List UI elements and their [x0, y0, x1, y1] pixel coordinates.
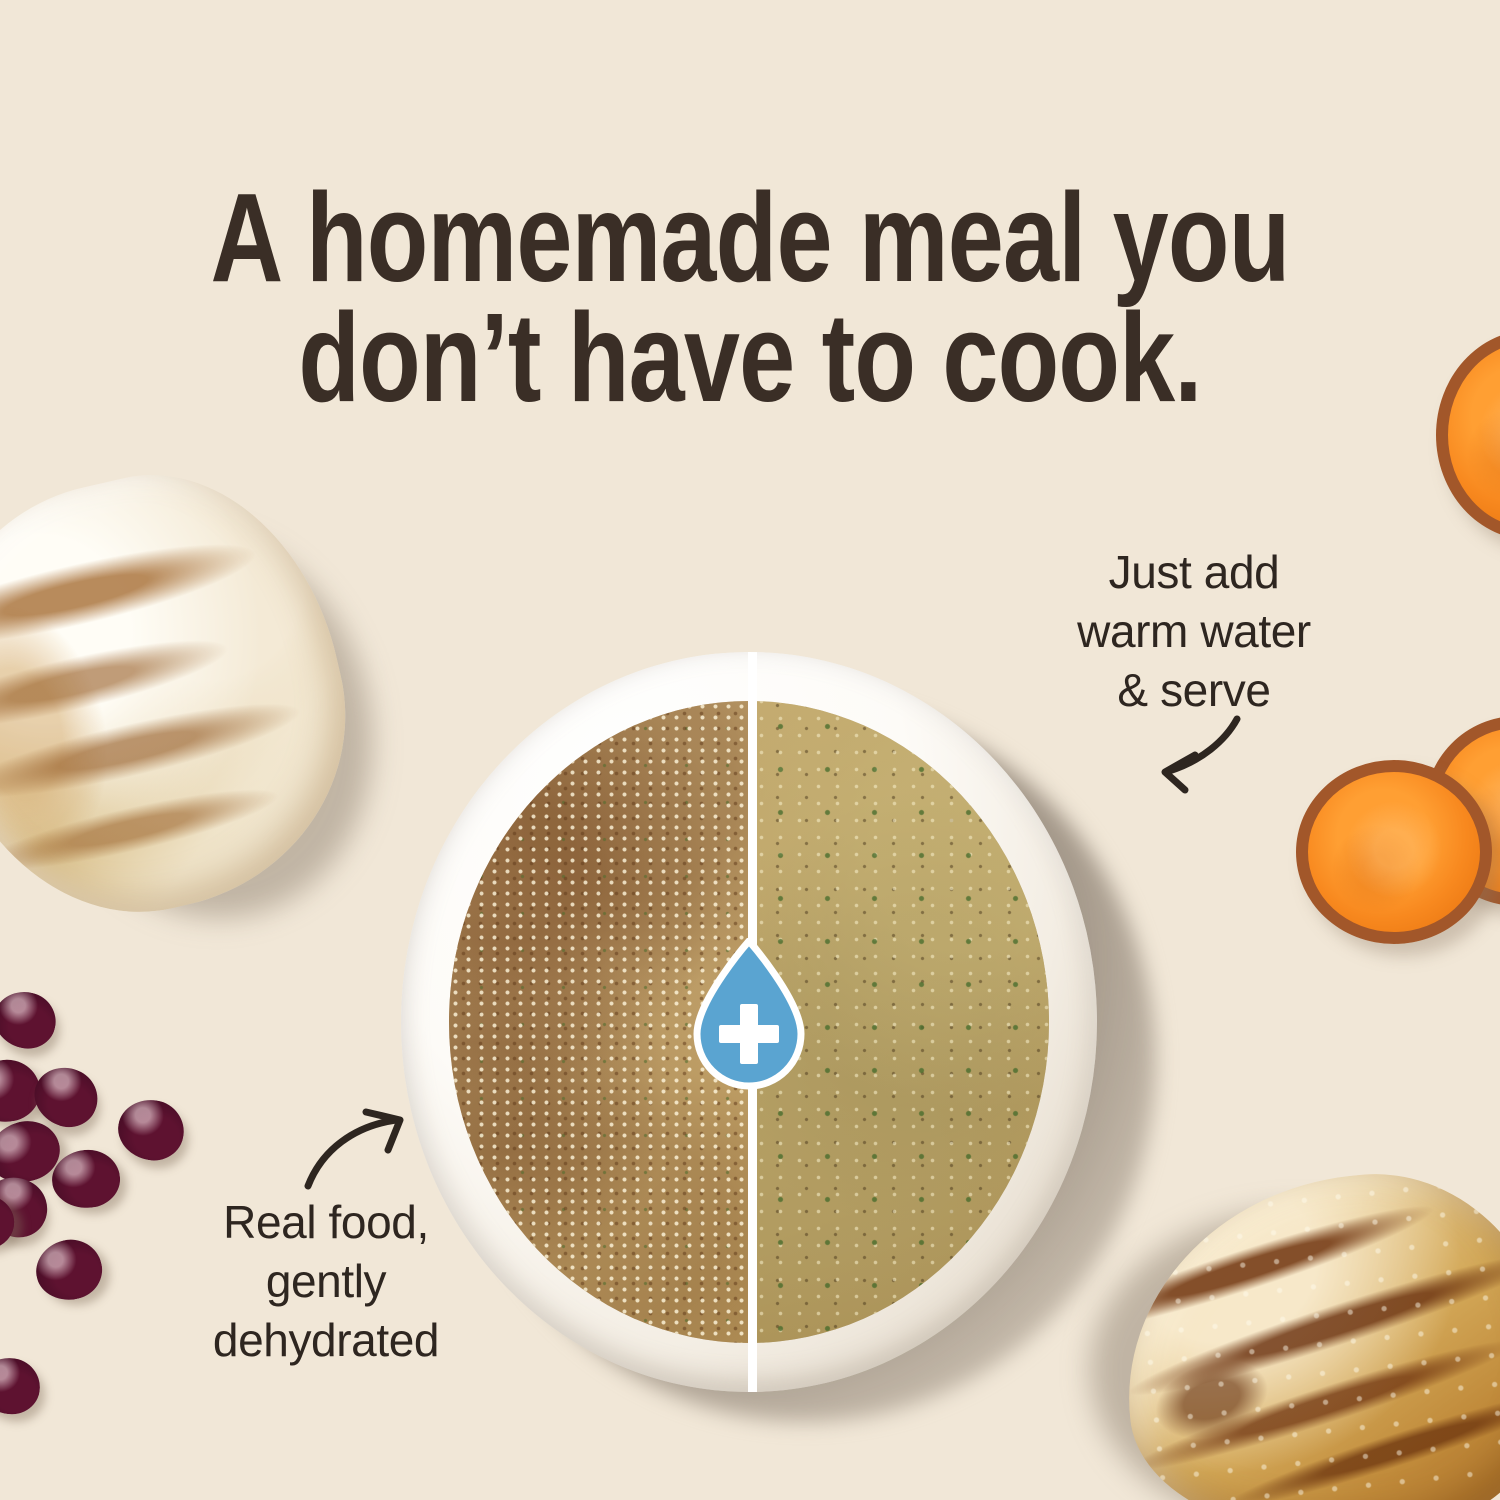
cranberry: [113, 1095, 188, 1166]
sweet-potato-slice: [1296, 760, 1492, 944]
annotation-real-food-gently-dehydrated: Real food, gently dehydrated: [146, 1193, 506, 1370]
sweet-potato-slice: [1436, 330, 1500, 540]
roasted-chicken-breast: [1107, 1157, 1500, 1500]
plus-horizontal: [719, 1025, 779, 1043]
fish-sear-marks: [0, 441, 383, 950]
arrow-up-right-icon: [300, 1108, 435, 1198]
annotation-just-add-warm-water: Just add warm water & serve: [1004, 543, 1384, 720]
cod-fish-fillet: [0, 441, 383, 950]
cranberry: [30, 1233, 109, 1307]
cranberry: [0, 1355, 43, 1417]
arrow-down-left-icon: [1085, 705, 1255, 800]
cranberry: [49, 1147, 123, 1212]
water-drop-plus-icon: [689, 938, 809, 1090]
page-title: A homemade meal you don’t have to cook.: [150, 178, 1350, 417]
product-graphic-canvas: A homemade meal you don’t have to cook. …: [0, 0, 1500, 1500]
chicken-gloss-highlights: [1107, 1157, 1500, 1500]
cranberry: [0, 985, 62, 1054]
